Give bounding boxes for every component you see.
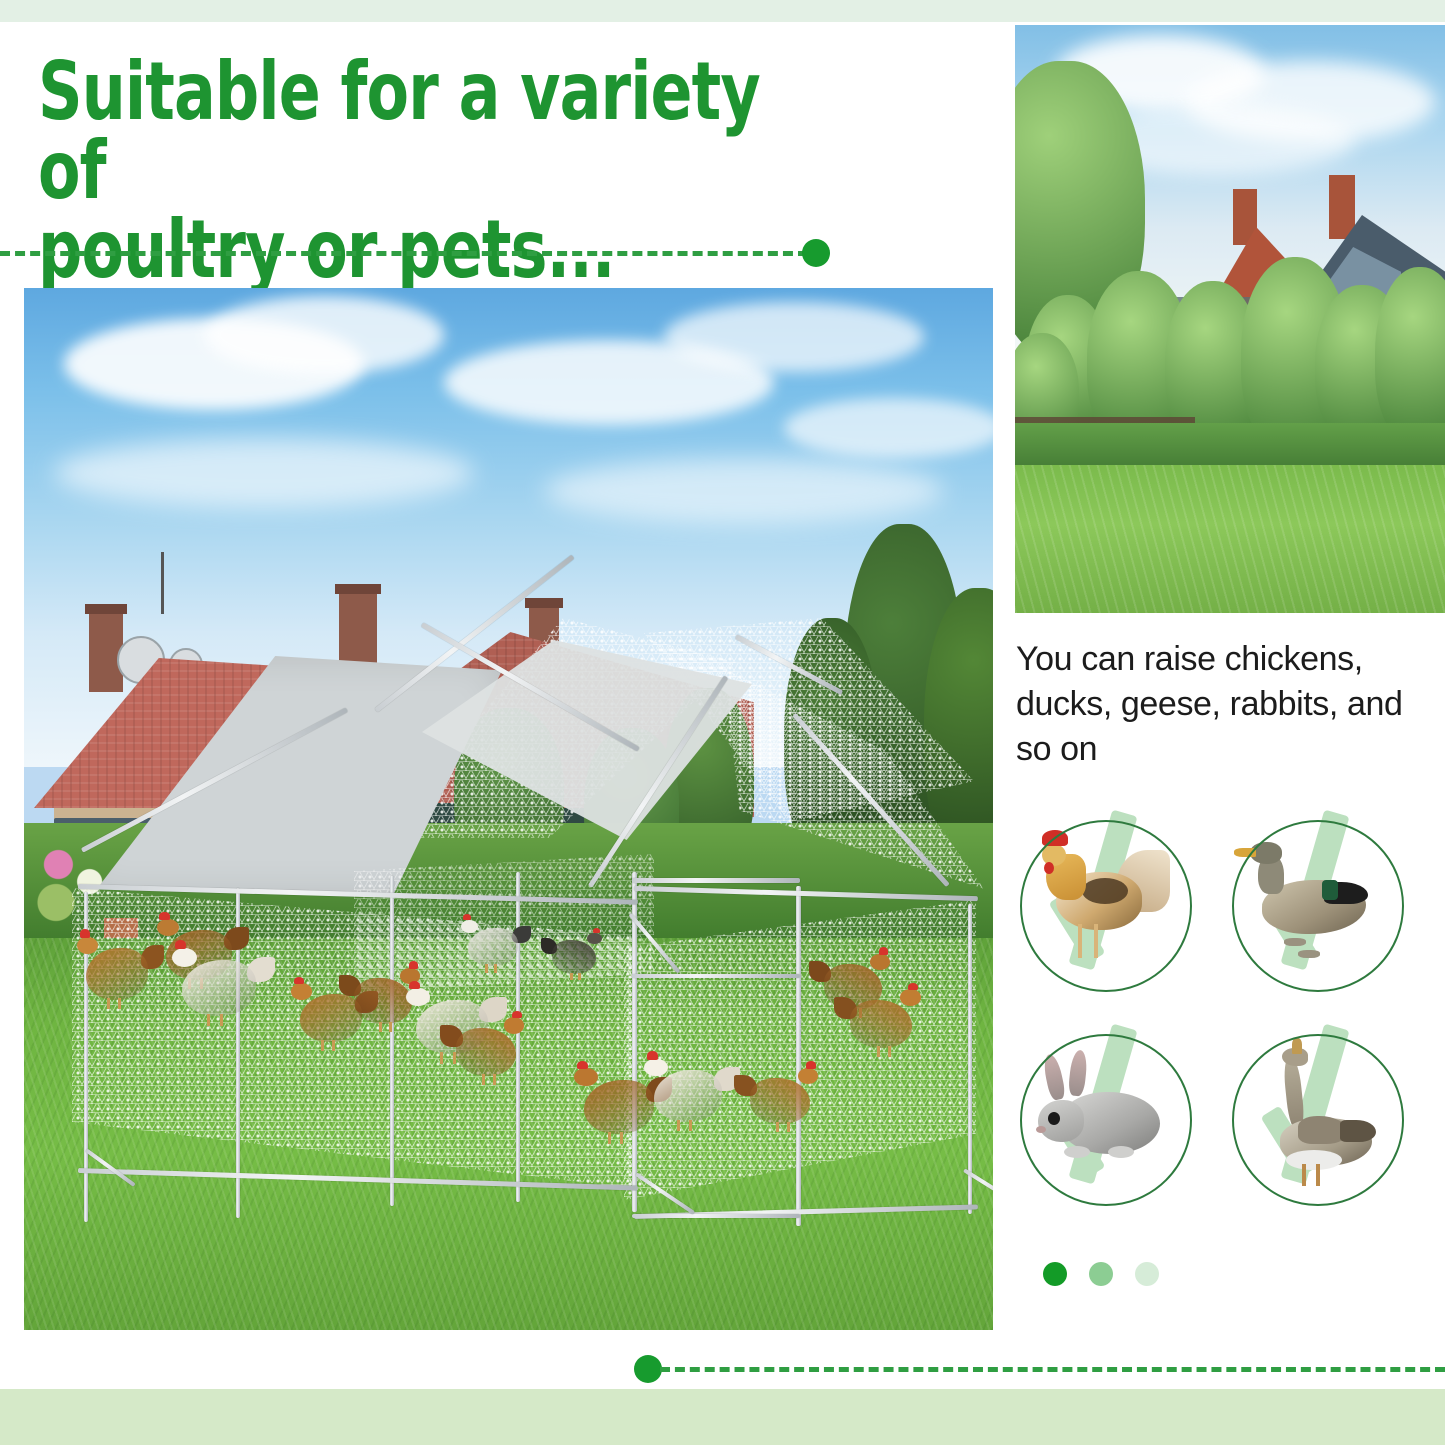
caption-text: You can raise chickens, ducks, geese, ra… xyxy=(1016,637,1416,772)
main-product-photo xyxy=(24,288,993,1330)
chicken-brown-hen xyxy=(86,948,148,1000)
chicken-white-rooster xyxy=(182,960,256,1016)
marketing-page: Suitable for a variety of poultry or pet… xyxy=(0,0,1445,1445)
tarp-roof-cover xyxy=(82,656,502,896)
animal-icon-rabbit[interactable] xyxy=(1014,1022,1214,1222)
animal-icon-goose[interactable] xyxy=(1226,1022,1426,1222)
chicken-brown-hen xyxy=(850,1000,912,1048)
bottom-accent-band xyxy=(0,1389,1445,1445)
chicken-dark-hen xyxy=(552,940,596,974)
animal-icon-grid xyxy=(1014,808,1434,1228)
carousel-dot-active[interactable] xyxy=(1043,1262,1067,1286)
chicken-brown-hen xyxy=(300,994,362,1042)
top-rail xyxy=(634,886,978,901)
dashed-rule-bottom xyxy=(634,1366,1445,1372)
chicken-speckled-hen xyxy=(468,928,518,966)
icon-ring xyxy=(1020,1034,1192,1206)
icon-ring xyxy=(1020,820,1192,992)
lawn-photo xyxy=(1015,25,1445,613)
door-header xyxy=(632,878,800,883)
dashed-line xyxy=(660,1367,1445,1372)
animal-icon-chicken[interactable] xyxy=(1014,808,1214,1008)
chicken-white-rooster xyxy=(654,1070,722,1122)
door-post xyxy=(796,886,801,1226)
vertical-post xyxy=(390,876,394,1206)
icon-ring xyxy=(1232,1034,1404,1206)
chicken-coop xyxy=(24,288,993,1330)
rule-end-dot xyxy=(802,239,830,267)
animal-icon-duck[interactable] xyxy=(1226,808,1426,1008)
rule-end-dot xyxy=(634,1355,662,1383)
chimney xyxy=(1329,175,1355,239)
chicken-brown-hen xyxy=(750,1078,810,1124)
vertical-post xyxy=(516,872,520,1202)
tree xyxy=(1375,267,1445,445)
door-threshold xyxy=(632,1214,800,1218)
dashed-line xyxy=(0,251,808,256)
top-accent-band xyxy=(0,0,1445,22)
chicken-brown-hen xyxy=(354,978,412,1024)
carousel-dots[interactable] xyxy=(1043,1262,1203,1292)
dashed-rule-top xyxy=(0,250,830,256)
chicken-brown-hen xyxy=(584,1080,654,1134)
door-crossbar xyxy=(632,974,800,978)
icon-ring xyxy=(1232,820,1404,992)
lawn xyxy=(1015,465,1445,613)
corner-post xyxy=(968,904,972,1214)
carousel-dot[interactable] xyxy=(1135,1262,1159,1286)
carousel-dot[interactable] xyxy=(1089,1262,1113,1286)
chicken-brown-hen xyxy=(456,1028,516,1076)
